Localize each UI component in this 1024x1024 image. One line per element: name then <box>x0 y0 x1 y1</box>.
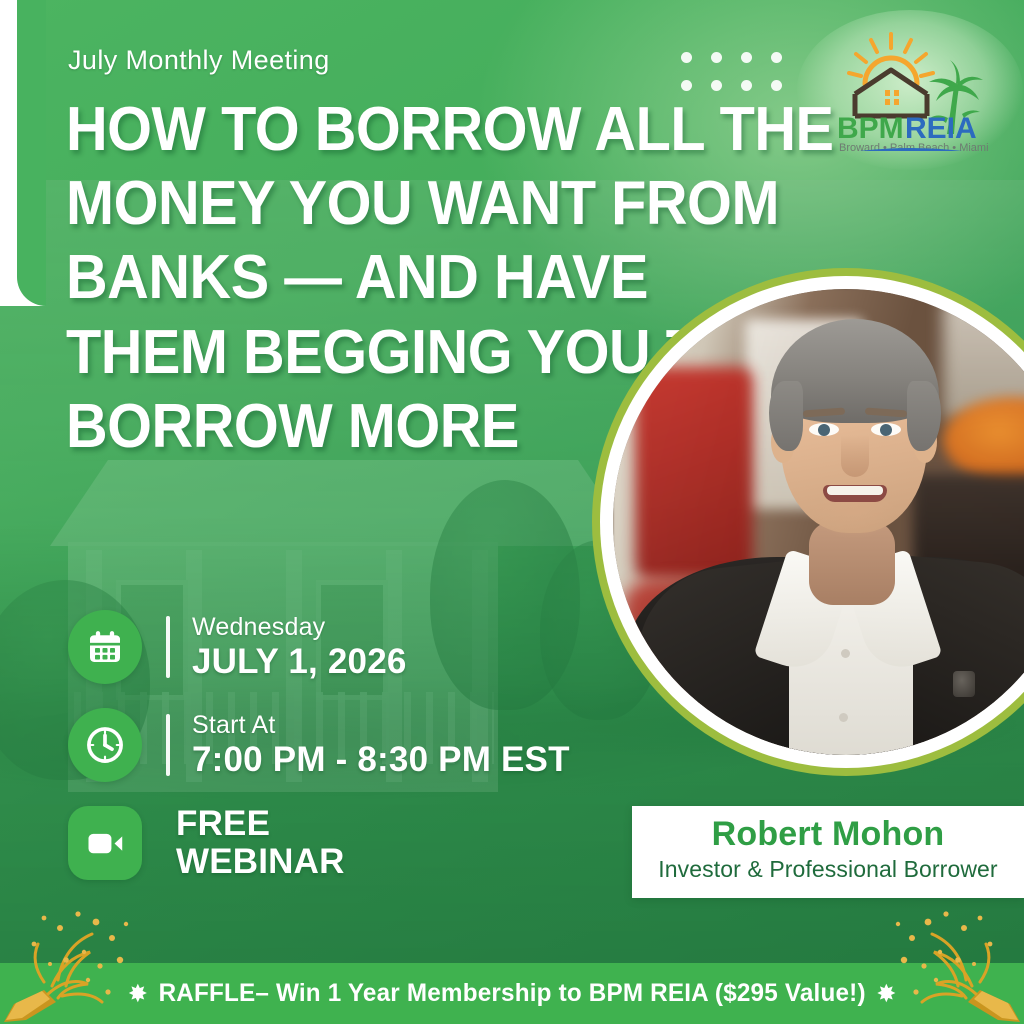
headline-line: BANKS — AND HAVE <box>66 246 624 309</box>
speaker-role: Investor & Professional Borrower <box>632 856 1024 883</box>
detail-row-date: Wednesday JULY 1, 2026 <box>68 606 588 688</box>
raffle-banner-content: ✸ RAFFLE– Win 1 Year Membership to BPM R… <box>129 979 896 1008</box>
speaker-portrait <box>592 268 1024 776</box>
detail-label: Start At <box>192 711 570 740</box>
detail-divider <box>166 714 170 776</box>
detail-row-webinar: FREE WEBINAR <box>68 802 588 884</box>
calendar-badge <box>68 610 142 684</box>
speaker-name: Robert Mohon <box>632 815 1024 854</box>
left-corner-notch <box>0 0 46 306</box>
event-details: Wednesday JULY 1, 2026 <box>68 606 588 900</box>
headline: HOW TO BORROW ALL THE MONEY YOU WANT FRO… <box>66 98 624 469</box>
raffle-banner: ✸ RAFFLE– Win 1 Year Membership to BPM R… <box>0 963 1024 1024</box>
webinar-label: FREE WEBINAR <box>176 805 345 881</box>
headline-line: THEM BEGGING YOU TO <box>66 321 624 384</box>
webinar-line-1: FREE <box>176 805 345 843</box>
detail-value: 7:00 PM - 8:30 PM EST <box>192 740 570 779</box>
detail-label: Wednesday <box>192 613 407 642</box>
speaker-card: Robert Mohon Investor & Professional Bor… <box>632 806 1024 898</box>
calendar-icon <box>85 627 125 667</box>
house-windows-icon <box>885 90 899 105</box>
video-camera-icon <box>83 821 127 865</box>
logo-artwork: BPM REIA Broward • Palm Beach • Miami <box>815 26 1005 151</box>
eyebrow-label: July Monthly Meeting <box>68 45 330 76</box>
portrait-photo <box>613 289 1024 755</box>
confetti-popper-right-icon <box>874 904 1024 1024</box>
logo-bpm-text: BPM <box>837 112 904 145</box>
webinar-line-2: WEBINAR <box>176 843 345 881</box>
portrait-person <box>613 289 1024 755</box>
raffle-banner-text: RAFFLE– Win 1 Year Membership to BPM REI… <box>158 979 865 1008</box>
headline-line: HOW TO BORROW ALL THE <box>66 98 624 161</box>
sun-icon <box>849 34 933 84</box>
headline-line: BORROW MORE <box>66 395 624 458</box>
clock-badge <box>68 708 142 782</box>
logo-reia-text: REIA <box>905 112 977 145</box>
headline-line: MONEY YOU WANT FROM <box>66 172 624 235</box>
flyer-canvas: BPM REIA Broward • Palm Beach • Miami Ju… <box>0 0 1024 1024</box>
detail-divider <box>166 616 170 678</box>
confetti-popper-left-icon <box>0 904 150 1024</box>
detail-row-time: Start At 7:00 PM - 8:30 PM EST <box>68 704 588 786</box>
video-camera-badge <box>68 806 142 880</box>
detail-value: JULY 1, 2026 <box>192 642 407 681</box>
clock-icon <box>84 724 126 766</box>
bpm-reia-logo: BPM REIA Broward • Palm Beach • Miami <box>815 26 1005 151</box>
